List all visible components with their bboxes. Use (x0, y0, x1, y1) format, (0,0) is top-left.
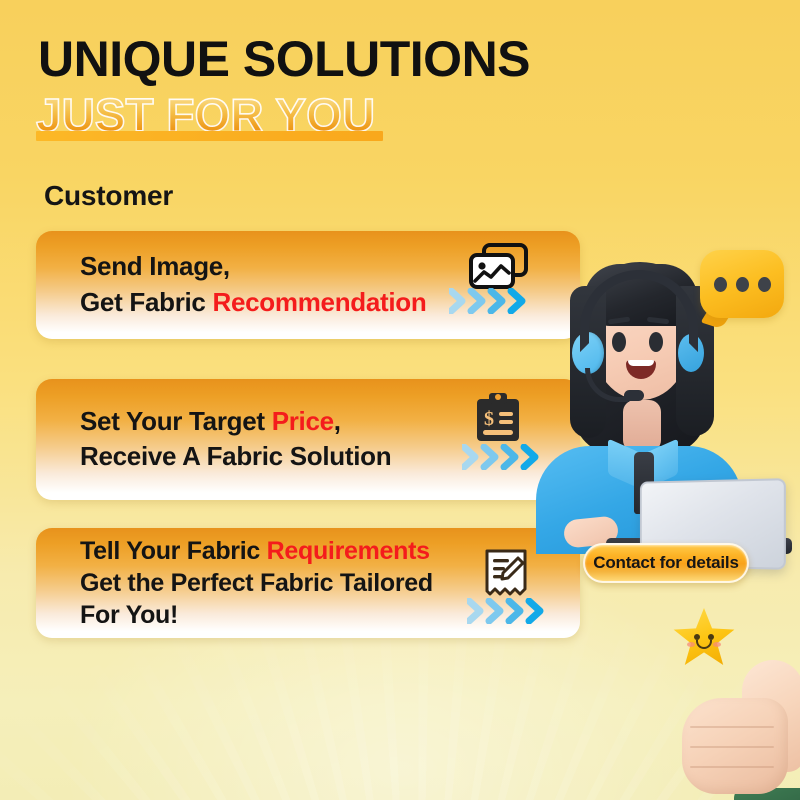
contact-button-label: Contact for details (593, 553, 738, 573)
feature-card-3[interactable]: Tell Your Fabric Requirements Get the Pe… (36, 528, 580, 638)
text-segment: For You! (80, 601, 178, 629)
highlight-segment: Recommendation (213, 287, 427, 317)
subheadline-underline (36, 131, 383, 141)
text-segment: Send Image, (80, 251, 230, 281)
agent-neck (623, 400, 661, 452)
star-cheek-right (713, 642, 721, 647)
text-segment: Set Your Target (80, 406, 272, 436)
highlight-segment: Price (272, 406, 334, 436)
feature-card-2[interactable]: Set Your Target Price, Receive A Fabric … (36, 379, 580, 500)
feature-card-3-line-1: Tell Your Fabric Requirements (80, 535, 580, 567)
feature-card-1-line-1: Send Image, (80, 251, 580, 283)
speech-dot (714, 277, 727, 292)
speech-bubble-dots (700, 250, 784, 318)
highlight-segment: Requirements (267, 537, 430, 565)
contact-for-details-button[interactable]: Contact for details (583, 543, 749, 583)
text-segment: Get the Perfect Fabric Tailored (80, 569, 433, 597)
thumb-crease (690, 746, 774, 748)
feature-card-2-text: Set Your Target Price, Receive A Fabric … (46, 379, 580, 500)
feature-card-3-line-3: For You! (80, 599, 580, 631)
promo-banner: UNIQUE SOLUTIONS JUST FOR YOU Customer S… (0, 0, 800, 800)
feature-card-2-line-1: Set Your Target Price, (80, 406, 580, 438)
section-label-customer: Customer (44, 180, 173, 212)
thumbs-up-icon (672, 648, 800, 800)
speech-dot (758, 277, 771, 292)
feature-card-3-line-2: Get the Perfect Fabric Tailored (80, 567, 580, 599)
star-cheek-left (687, 642, 695, 647)
headline: UNIQUE SOLUTIONS (38, 34, 530, 84)
text-segment: Get Fabric (80, 287, 213, 317)
text-segment: , (334, 406, 341, 436)
feature-card-3-text: Tell Your Fabric Requirements Get the Pe… (46, 528, 580, 638)
feature-card-1[interactable]: Send Image, Get Fabric Recommendation (36, 231, 580, 339)
text-segment: Tell Your Fabric (80, 537, 267, 565)
thumb-crease (690, 726, 774, 728)
thumb-crease (690, 766, 774, 768)
text-segment: Receive A Fabric Solution (80, 441, 391, 471)
feature-card-1-line-2: Get Fabric Recommendation (80, 287, 580, 319)
feature-card-1-text: Send Image, Get Fabric Recommendation (46, 231, 580, 339)
headset-mic-tip (624, 390, 644, 401)
speech-dot (736, 277, 749, 292)
feature-card-2-line-2: Receive A Fabric Solution (80, 441, 580, 473)
